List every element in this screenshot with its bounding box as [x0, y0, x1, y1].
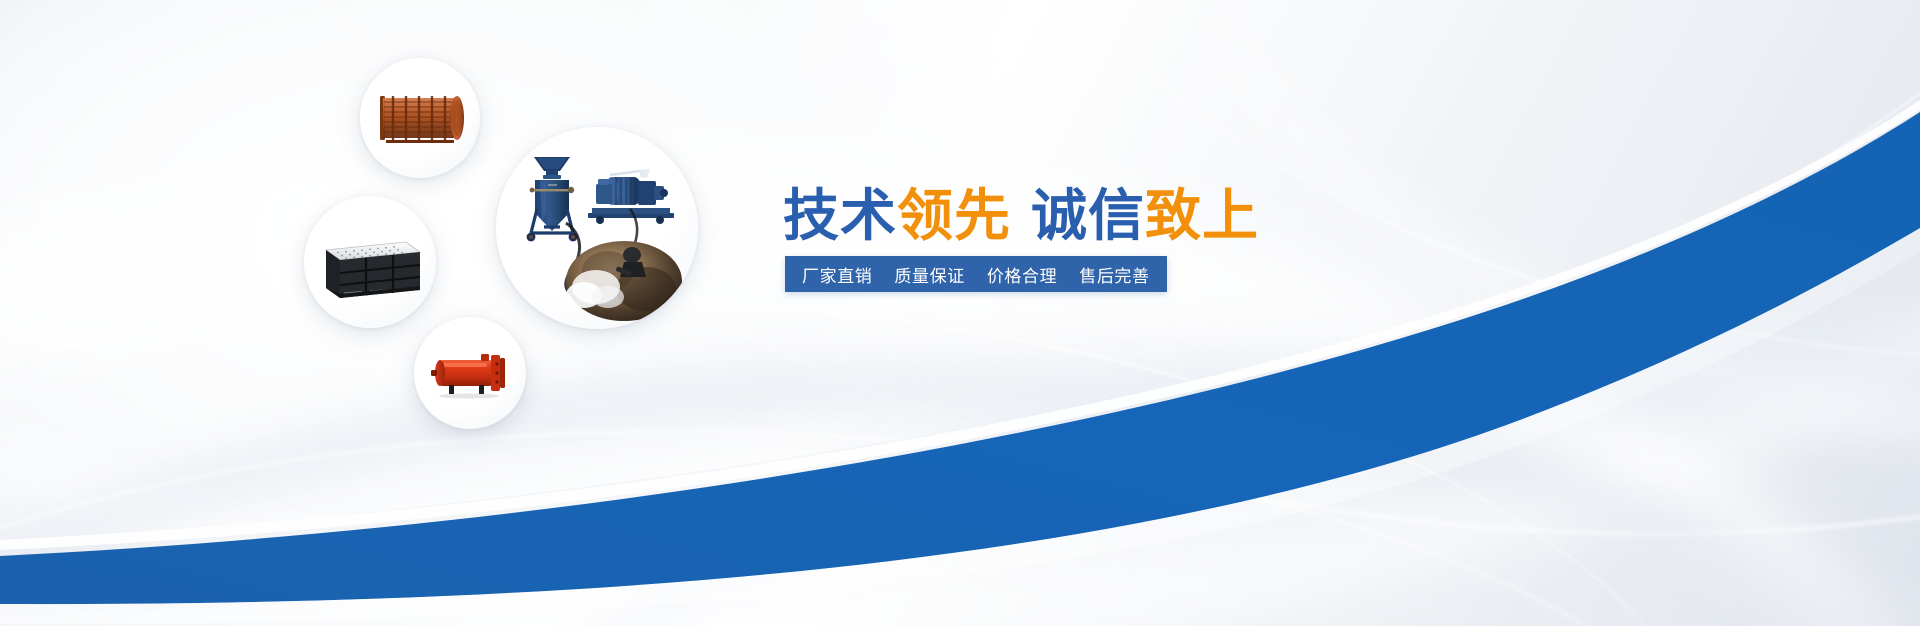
tagline-item-2: 质量保证	[894, 262, 964, 287]
product-circle-tube-bundle[interactable]	[360, 58, 480, 178]
product-circle-heat-exchanger[interactable]	[414, 317, 526, 429]
headline-segment-4: 致上	[1145, 184, 1259, 247]
product-circle-blasting-unit[interactable]	[496, 127, 698, 329]
tagline-item-3: 价格合理	[987, 262, 1057, 287]
blue-swoosh-graphic	[0, 0, 1920, 626]
product-circle-grid-panel[interactable]	[304, 196, 436, 328]
headline-segment-3: 诚信	[1031, 184, 1145, 247]
headline: 技术领先诚信致上	[783, 186, 1259, 246]
black-grid-panel-icon	[312, 204, 428, 320]
headline-segment-1: 技术	[783, 184, 897, 247]
blue-sandblasting-machine-icon	[504, 135, 690, 321]
tagline-item-4: 售后完善	[1079, 262, 1149, 287]
tagline-item-1: 厂家直销	[802, 262, 872, 287]
promo-banner: 技术领先诚信致上 厂家直销 质量保证 价格合理 售后完善	[0, 0, 1920, 626]
tagline-bar: 厂家直销 质量保证 价格合理 售后完善	[785, 256, 1167, 292]
headline-segment-2: 领先	[897, 184, 1011, 247]
red-heat-exchanger-icon	[421, 324, 519, 422]
copper-tube-bundle-icon	[368, 66, 472, 170]
